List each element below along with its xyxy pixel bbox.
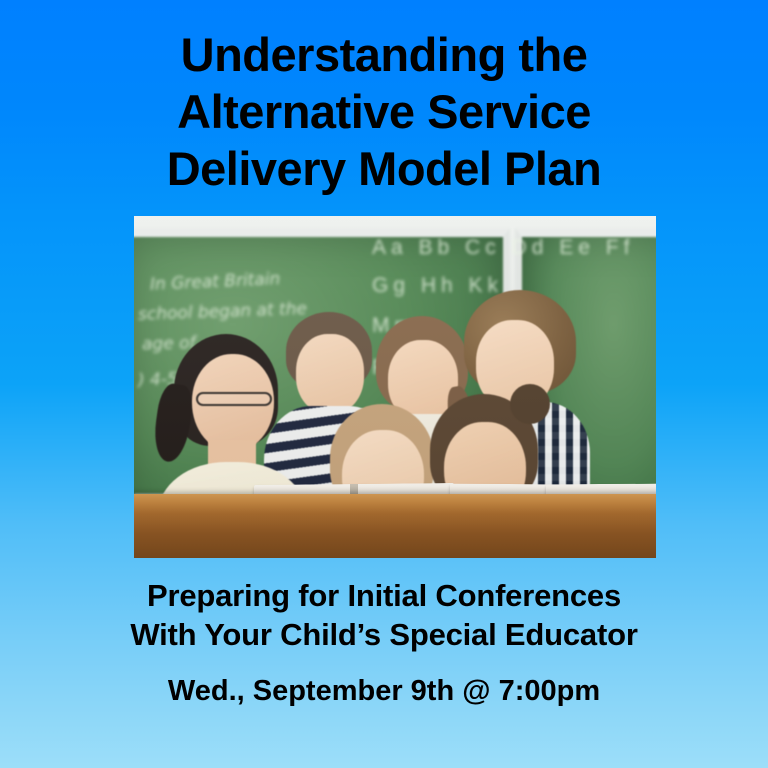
- headline-line-1: Understanding the: [0, 26, 768, 83]
- subtitle: Preparing for Initial Conferences With Y…: [0, 576, 768, 654]
- poster-flyer: Understanding the Alternative Service De…: [0, 0, 768, 768]
- page-title: Understanding the Alternative Service De…: [0, 26, 768, 197]
- classroom-photo: In Great Britain school began at the age…: [134, 216, 656, 558]
- headline-line-2: Alternative Service: [0, 83, 768, 140]
- headline-line-3: Delivery Model Plan: [0, 140, 768, 197]
- subtitle-line-2: With Your Child’s Special Educator: [0, 615, 768, 654]
- boy-striped-face: [296, 334, 364, 414]
- glasses-icon: [196, 392, 272, 406]
- subtitle-line-1: Preparing for Initial Conferences: [0, 576, 768, 615]
- desk-main: [134, 494, 656, 558]
- photo-canvas: In Great Britain school began at the age…: [134, 216, 656, 558]
- event-datetime: Wed., September 9th @ 7:00pm: [0, 673, 768, 709]
- girl-yellow-bun: [510, 384, 550, 424]
